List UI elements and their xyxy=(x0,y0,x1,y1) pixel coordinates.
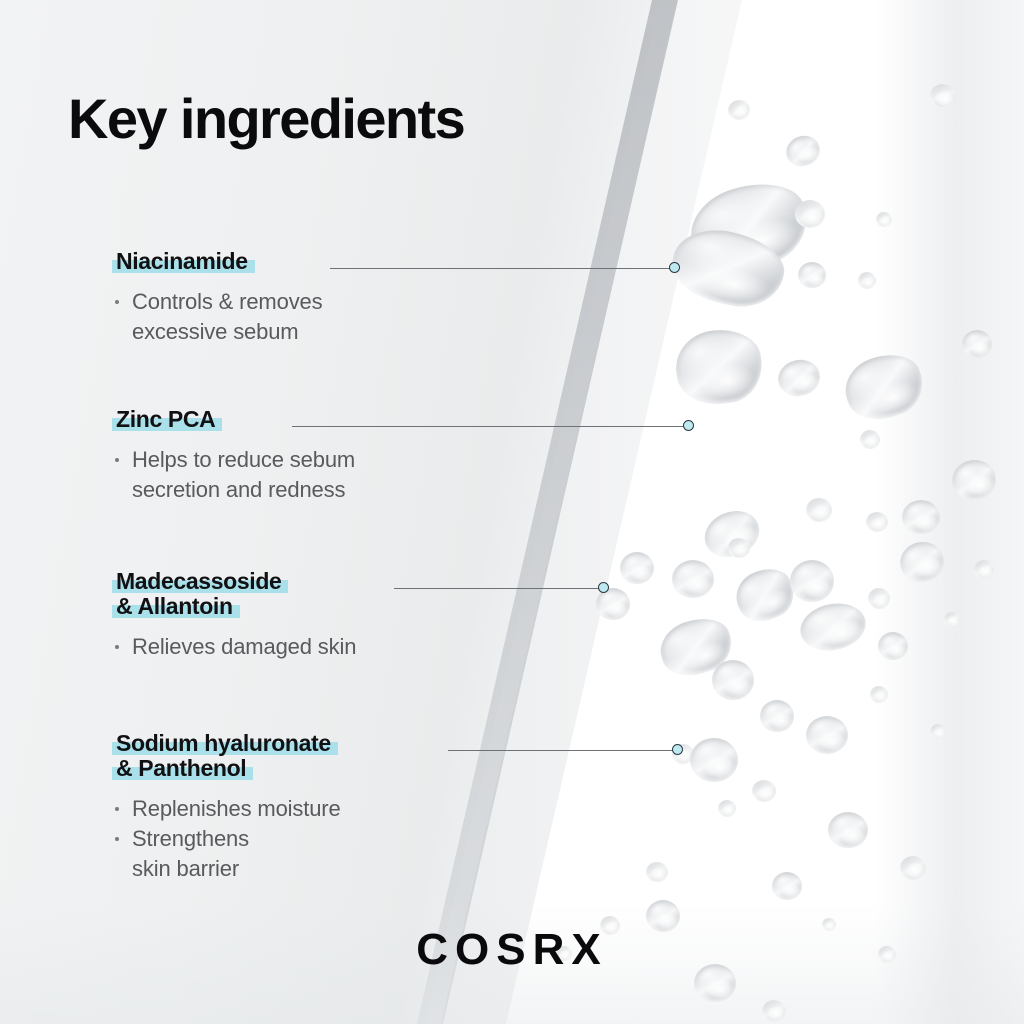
droplet xyxy=(790,560,834,602)
ingredient-block: NiacinamideControls & removes excessive … xyxy=(112,250,322,347)
connector-endpoint-marker xyxy=(669,262,680,273)
ingredient-heading-line: Niacinamide xyxy=(112,250,322,274)
droplet xyxy=(646,900,680,932)
droplet xyxy=(944,612,960,627)
benefit-item: Helps to reduce sebum secretion and redn… xyxy=(112,445,355,505)
ingredient-benefits: Replenishes moistureStrengthens skin bar… xyxy=(112,794,341,884)
droplet xyxy=(896,538,947,586)
droplet xyxy=(900,856,926,880)
ingredient-heading-line: & Allantoin xyxy=(112,595,356,619)
benefit-item: Controls & removes excessive sebum xyxy=(112,287,322,347)
ingredient-heading: Sodium hyaluronate& Panthenol xyxy=(112,732,341,781)
connector-stroke xyxy=(292,426,688,427)
droplet xyxy=(860,430,880,449)
droplet xyxy=(949,456,999,503)
droplet xyxy=(822,918,836,931)
connector-endpoint-marker xyxy=(598,582,609,593)
connector-line xyxy=(394,582,609,595)
connector-line xyxy=(448,744,683,757)
droplet xyxy=(726,98,752,122)
droplet xyxy=(752,780,776,802)
droplet xyxy=(728,538,750,558)
connector-line xyxy=(330,262,680,275)
droplet xyxy=(712,660,754,700)
ingredient-heading-line: Sodium hyaluronate xyxy=(112,732,341,756)
droplet xyxy=(878,946,896,963)
droplet xyxy=(806,498,832,522)
droplet xyxy=(671,324,766,409)
droplet xyxy=(718,800,736,817)
droplet xyxy=(690,738,738,782)
brand-logo: COSRX xyxy=(416,925,607,975)
droplet xyxy=(760,700,794,732)
highlighted-text: Zinc PCA xyxy=(112,406,222,432)
connector-endpoint-marker xyxy=(683,420,694,431)
connector-line xyxy=(292,420,694,433)
droplet xyxy=(928,82,957,109)
droplet xyxy=(858,272,876,289)
droplet xyxy=(806,716,848,754)
connector-stroke xyxy=(448,750,677,751)
infographic-canvas: Key ingredients NiacinamideControls & re… xyxy=(0,0,1024,1024)
droplet xyxy=(828,812,868,848)
ingredient-heading: Madecassoside& Allantoin xyxy=(112,570,356,619)
droplet xyxy=(837,345,930,428)
droplet xyxy=(620,552,654,584)
droplet xyxy=(868,588,890,609)
droplet xyxy=(646,862,668,882)
droplet xyxy=(974,560,994,579)
ingredient-heading-line: & Panthenol xyxy=(112,757,341,781)
ingredient-benefits: Controls & removes excessive sebum xyxy=(112,287,322,347)
highlighted-text: Niacinamide xyxy=(112,248,255,274)
highlighted-text: & Allantoin xyxy=(112,593,240,619)
highlighted-text: & Panthenol xyxy=(112,755,253,781)
droplet xyxy=(870,686,888,703)
droplet xyxy=(782,131,824,171)
connector-stroke xyxy=(394,588,603,589)
page-title: Key ingredients xyxy=(68,86,464,151)
ingredient-block: Madecassoside& AllantoinRelieves damaged… xyxy=(112,570,356,662)
droplet xyxy=(795,200,825,228)
droplet xyxy=(796,598,870,657)
connector-endpoint-marker xyxy=(672,744,683,755)
droplet xyxy=(728,560,801,629)
droplet xyxy=(798,262,826,288)
ingredient-benefits: Relieves damaged skin xyxy=(112,632,356,662)
benefit-item: Replenishes moisture xyxy=(112,794,341,824)
ingredient-heading-line: Madecassoside xyxy=(112,570,356,594)
benefit-item: Strengthens skin barrier xyxy=(112,824,341,884)
droplet xyxy=(930,724,946,739)
ingredient-heading: Niacinamide xyxy=(112,250,322,274)
droplet xyxy=(694,964,736,1002)
droplet xyxy=(878,632,908,660)
ingredient-benefits: Helps to reduce sebum secretion and redn… xyxy=(112,445,355,505)
droplet xyxy=(672,560,714,598)
ingredient-block: Sodium hyaluronate& PanthenolReplenishes… xyxy=(112,732,341,884)
highlighted-text: Sodium hyaluronate xyxy=(112,730,338,756)
droplet xyxy=(876,212,892,227)
droplet xyxy=(902,500,940,534)
droplet xyxy=(762,1000,786,1022)
benefit-item: Relieves damaged skin xyxy=(112,632,356,662)
droplet xyxy=(866,512,888,532)
droplet xyxy=(772,872,802,900)
droplet xyxy=(774,355,823,400)
connector-stroke xyxy=(330,268,674,269)
droplet xyxy=(962,330,992,358)
highlighted-text: Madecassoside xyxy=(112,568,288,594)
